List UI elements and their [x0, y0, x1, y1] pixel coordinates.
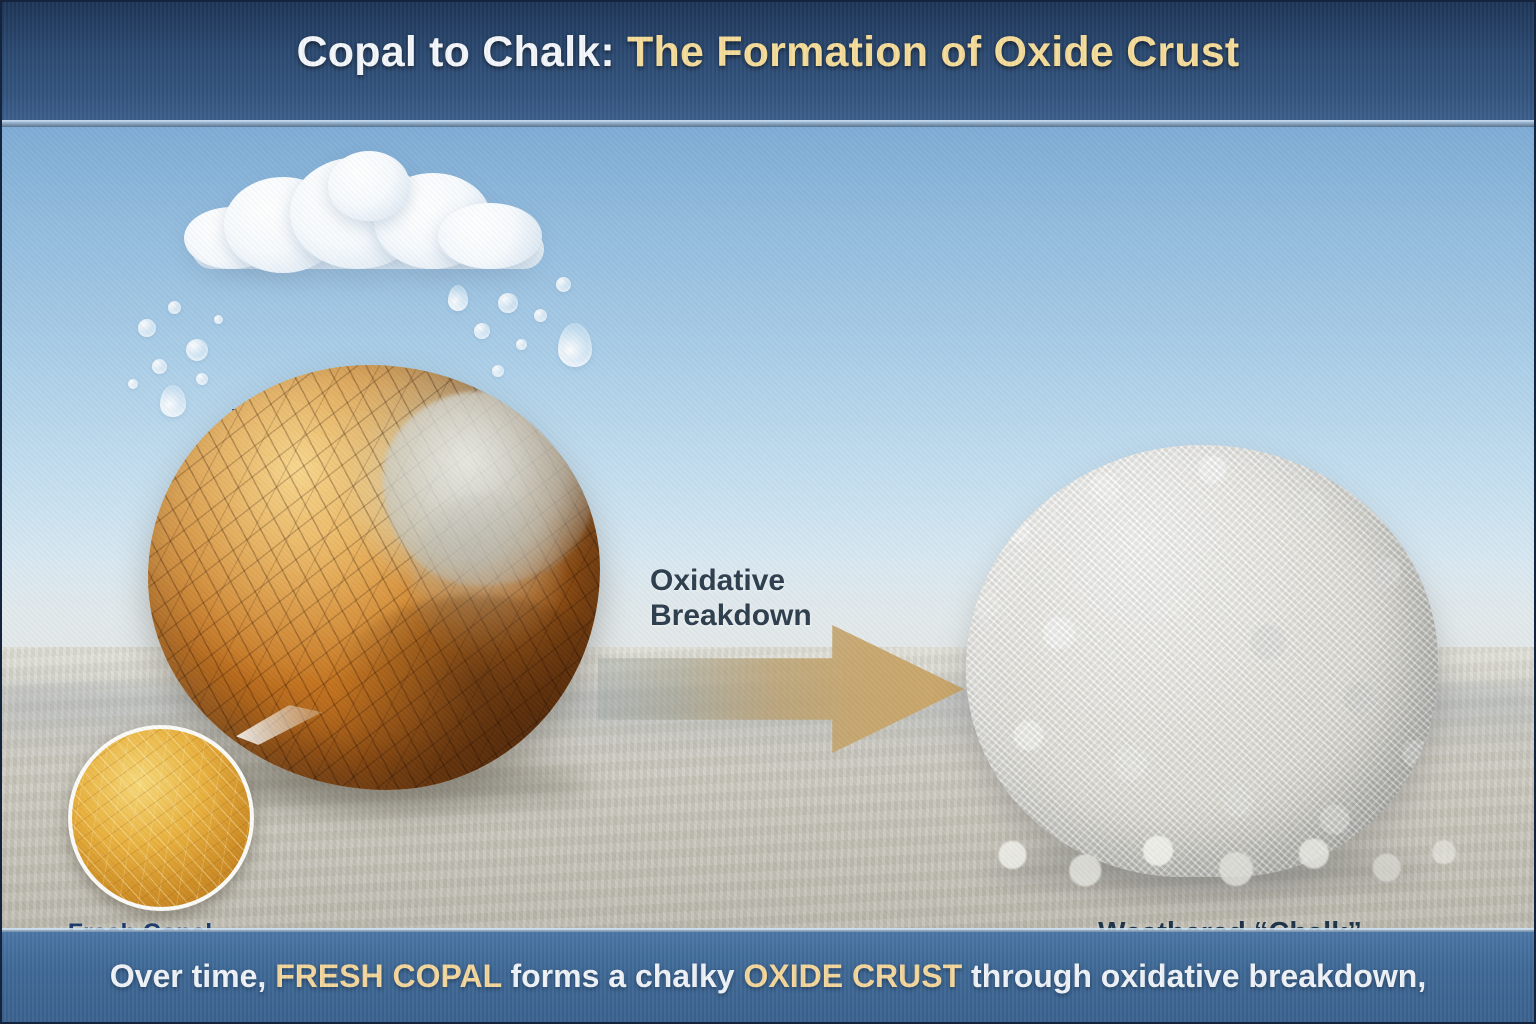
water-droplet-icon — [474, 323, 490, 339]
fresh-copal-inset-circle — [68, 725, 254, 911]
cloud-puff — [438, 203, 542, 269]
copal-interior-texture — [72, 729, 250, 907]
caption-band: Over time, FRESH COPAL forms a chalky OX… — [0, 932, 1536, 1024]
chalk-grain-texture — [966, 445, 1438, 877]
right-arrow-icon — [598, 625, 964, 753]
title-divider — [0, 120, 1536, 127]
water-droplet-icon — [186, 339, 208, 361]
title-band: Copal to Chalk: The Formation of Oxide C… — [0, 0, 1536, 122]
water-droplet-icon — [498, 293, 518, 313]
title-main: Copal to Chalk: — [297, 28, 615, 76]
caption-highlight-oxide-crust: OXIDE CRUST — [743, 958, 962, 994]
chalk-sphere — [966, 445, 1438, 877]
water-droplet-icon — [534, 309, 547, 322]
oxidative-breakdown-label: Oxidative Breakdown — [650, 564, 812, 634]
water-teardrop-icon — [448, 285, 468, 311]
caption-part3: through oxidative breakdown, — [962, 958, 1426, 994]
scene-panel: Water + Oxygen Oxidative Breakdown Fresh — [0, 127, 1536, 930]
page-title: Copal to Chalk: The Formation of Oxide C… — [0, 28, 1536, 77]
water-droplet-icon — [138, 319, 156, 337]
chalk-debris — [950, 827, 1470, 897]
infographic-root: Copal to Chalk: The Formation of Oxide C… — [0, 0, 1536, 1024]
title-subtitle: The Formation of Oxide Crust — [627, 28, 1239, 76]
water-droplet-icon — [128, 379, 138, 389]
caption-part1: Over time, — [110, 958, 275, 994]
water-droplet-icon — [168, 301, 181, 314]
water-droplet-icon — [516, 339, 527, 350]
caption-text: Over time, FRESH COPAL forms a chalky OX… — [0, 958, 1536, 995]
water-droplet-icon — [214, 315, 223, 324]
caption-highlight-fresh-copal: FRESH COPAL — [275, 958, 501, 994]
caption-part2: forms a chalky — [502, 958, 744, 994]
cloud-puff — [328, 151, 410, 221]
water-droplet-icon — [556, 277, 571, 292]
copal-sphere — [148, 365, 600, 790]
water-teardrop-icon — [558, 323, 592, 367]
arrow-body — [598, 625, 964, 753]
cloud-icon — [178, 155, 558, 275]
